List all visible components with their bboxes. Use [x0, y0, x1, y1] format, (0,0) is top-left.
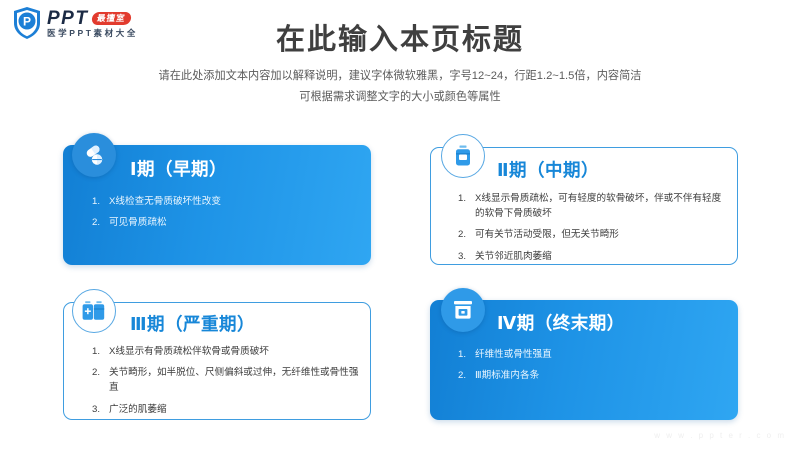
- list-item: 1. X线检查无骨质破坏性改变: [92, 195, 352, 210]
- item-text: X线检查无骨质破坏性改变: [109, 195, 352, 210]
- stage-card-4-items: 1. 纤维性或骨性强直 2. Ⅲ期标准内各条: [458, 348, 718, 391]
- medicine-bottle-icon: [441, 134, 485, 178]
- item-text: X线显示骨质疏松，可有轻度的软骨破坏，伴或不伴有轻度的软骨下骨质破坏: [475, 192, 730, 222]
- stage-card-3-items: 1. X线显示有骨质疏松伴软骨或骨质破坏 2. 关节畸形，如半脱位、尺侧偏斜或过…: [92, 345, 364, 424]
- item-text: 关节畸形，如半脱位、尺侧偏斜或过伸，无纤维性或骨性强直: [109, 366, 364, 396]
- slide-canvas: P PPT 最擅室 医学PPT素材大全 在此输入本页标题 请在此处添加文本内容加…: [0, 0, 800, 450]
- item-number: 3.: [92, 403, 104, 418]
- list-item: 3. 广泛的肌萎缩: [92, 403, 364, 418]
- item-text: 可有关节活动受限，但无关节畸形: [475, 228, 730, 243]
- item-number: 1.: [458, 348, 470, 363]
- stage-card-2-heading: Ⅱ期（中期）: [497, 157, 599, 182]
- list-item: 1. 纤维性或骨性强直: [458, 348, 718, 363]
- item-text: X线显示有骨质疏松伴软骨或骨质破坏: [109, 345, 364, 360]
- item-number: 2.: [458, 369, 470, 384]
- item-text: 关节邻近肌肉萎缩: [475, 250, 730, 265]
- subtitle-line-1: 请在此处添加文本内容加以解释说明，建议字体微软雅黑，字号12~24，行距1.2~…: [100, 66, 700, 87]
- item-number: 1.: [92, 195, 104, 210]
- item-number: 2.: [458, 228, 470, 243]
- list-item: 2. 可有关节活动受限，但无关节畸形: [458, 228, 730, 243]
- pills-icon: [72, 133, 116, 177]
- item-number: 2.: [92, 216, 104, 231]
- list-item: 3. 关节邻近肌肉萎缩: [458, 250, 730, 265]
- item-number: 1.: [92, 345, 104, 360]
- subtitle-line-2: 可根据需求调整文字的大小或颜色等属性: [100, 87, 700, 108]
- stage-card-2-items: 1. X线显示骨质疏松，可有轻度的软骨破坏，伴或不伴有轻度的软骨下骨质破坏 2.…: [458, 192, 730, 271]
- stage-card-3-heading: Ⅲ期（严重期）: [130, 311, 255, 336]
- list-item: 2. Ⅲ期标准内各条: [458, 369, 718, 384]
- stage-card-1-heading: Ⅰ期（早期）: [130, 156, 227, 181]
- list-item: 2. 关节畸形，如半脱位、尺侧偏斜或过伸，无纤维性或骨性强直: [92, 366, 364, 396]
- watermark: w w w . p p t e r . c o m: [654, 431, 786, 440]
- stage-card-1-items: 1. X线检查无骨质破坏性改变 2. 可见骨质疏松: [92, 195, 352, 238]
- page-title: 在此输入本页标题: [0, 16, 800, 58]
- two-bottles-icon: [72, 289, 116, 333]
- page-subtitle: 请在此处添加文本内容加以解释说明，建议字体微软雅黑，字号12~24，行距1.2~…: [100, 66, 700, 107]
- item-text: Ⅲ期标准内各条: [475, 369, 718, 384]
- list-item: 2. 可见骨质疏松: [92, 216, 352, 231]
- item-text: 纤维性或骨性强直: [475, 348, 718, 363]
- item-number: 2.: [92, 366, 104, 396]
- medicine-box-icon: [441, 288, 485, 332]
- list-item: 1. X线显示骨质疏松，可有轻度的软骨破坏，伴或不伴有轻度的软骨下骨质破坏: [458, 192, 730, 222]
- item-number: 3.: [458, 250, 470, 265]
- item-text: 可见骨质疏松: [109, 216, 352, 231]
- item-number: 1.: [458, 192, 470, 222]
- stage-card-4-heading: Ⅳ期（终末期）: [497, 310, 625, 335]
- list-item: 1. X线显示有骨质疏松伴软骨或骨质破坏: [92, 345, 364, 360]
- item-text: 广泛的肌萎缩: [109, 403, 364, 418]
